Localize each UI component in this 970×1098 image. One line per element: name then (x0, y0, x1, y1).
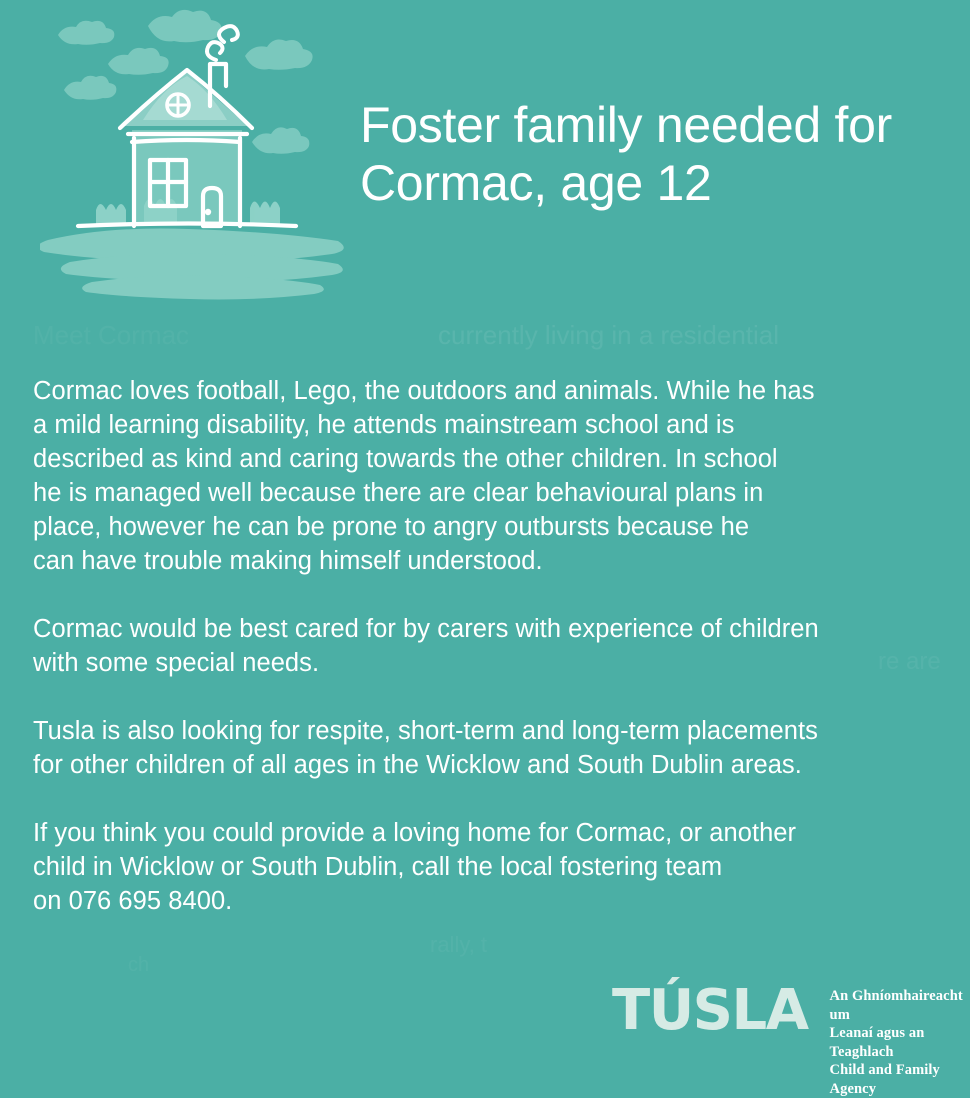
tusla-tagline: An Ghníomhaireacht um Leanaí agus an Tea… (830, 987, 970, 1098)
tusla-wordmark: TÚSLA (612, 983, 808, 1041)
house-illustration-icon (40, 8, 350, 300)
door-knob-icon (205, 209, 211, 215)
ghost-text-fragment-1: Meet Cormac (33, 318, 189, 352)
ghost-text-fragment-5: ch (128, 948, 149, 982)
body-paragraph: Cormac loves football, Lego, the outdoor… (33, 374, 958, 578)
ghost-text-fragment-2: currently living in a residential (438, 318, 779, 352)
poster-canvas: Foster family needed for Cormac, age 12 … (0, 0, 970, 1064)
body-copy: Cormac loves football, Lego, the outdoor… (33, 374, 958, 918)
ground-blob-shapes-icon (40, 228, 344, 299)
body-paragraph: Cormac would be best cared for by carers… (33, 612, 958, 680)
roof-window-icon (167, 94, 189, 116)
hero-section: Foster family needed for Cormac, age 12 (0, 0, 970, 300)
body-paragraph: If you think you could provide a loving … (33, 816, 958, 918)
body-paragraph: Tusla is also looking for respite, short… (33, 714, 958, 782)
page-title: Foster family needed for Cormac, age 12 (360, 96, 960, 212)
ghost-text-fragment-4: rally, t (430, 928, 487, 962)
tusla-logo: TÚSLA An Ghníomhaireacht um Leanaí agus … (612, 983, 970, 1098)
